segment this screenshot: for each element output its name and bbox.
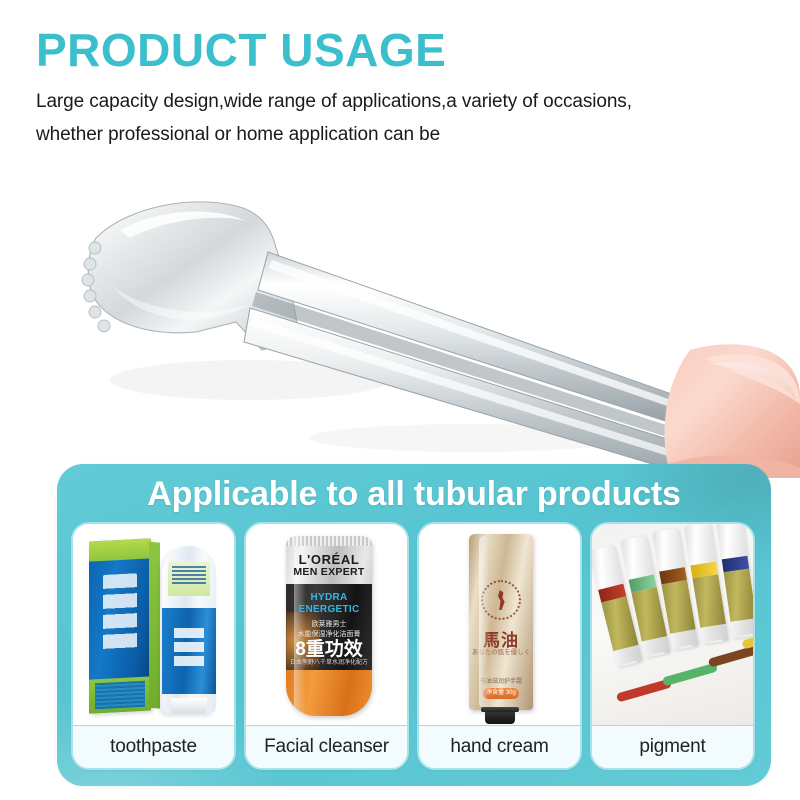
product-card-toothpaste[interactable]: toothpaste [71,522,236,770]
subtitle-line-2: whether professional or home application… [36,119,776,152]
hand-cream-image: 馬油 あなたの肌を優しく 马油滋润护手霜 净含量 30g [419,524,580,726]
card-label-toothpaste: toothpaste [73,726,234,768]
cleanser-tube: L'ORÉAL MEN EXPERT HYDRA ENERGETIC 欧莱雅男士… [286,536,372,716]
toothpaste-tube [162,546,216,714]
cleanser-cn-text: 欧莱雅男士 水能保湿净化洁面膏 [286,620,372,640]
hand-grip [665,344,800,478]
facial-cleanser-image: L'ORÉAL MEN EXPERT HYDRA ENERGETIC 欧莱雅男士… [246,524,407,726]
cn-line-2: 水能保湿净化洁面膏 [298,631,361,638]
header: PRODUCT USAGE Large capacity design,wide… [36,26,776,152]
hero-product-photo [0,168,800,478]
box-label-strip [95,681,145,710]
tube-gloss [479,536,489,708]
brand-loreal: L'ORÉAL [286,552,372,567]
cn-line-1: 欧莱雅男士 [312,621,347,628]
tube-top-label [168,562,210,596]
box-vertical-text [103,573,137,685]
product-card-pigment[interactable]: pigment [590,522,755,770]
product-cards-row: toothpaste L'ORÉAL MEN EXPERT HYDRA [71,522,755,770]
toothpaste-image [73,524,234,726]
cleanser-footnote: 日本熊野八千草水润净化配方 [286,657,372,666]
card-label-facial-cleanser: Facial cleanser [246,726,407,768]
page-subtitle: Large capacity design,wide range of appl… [36,86,776,151]
tube-brand-text [174,628,204,674]
product-card-hand-cream[interactable]: 馬油 あなたの肌を優しく 马油滋润护手霜 净含量 30g hand cream [417,522,582,770]
toothpaste-box [89,538,151,713]
card-label-hand-cream: hand cream [419,726,580,768]
subtitle-line-1: Large capacity design,wide range of appl… [36,91,632,112]
applicable-products-panel: Applicable to all tubular products [57,464,771,786]
tube-squeezer-illustration [0,168,800,478]
panel-title: Applicable to all tubular products [57,475,771,514]
brand-men-expert: MEN EXPERT [286,566,372,578]
hand-cream-tube: 馬油 あなたの肌を優しく 马油滋润护手霜 净含量 30g [469,534,533,710]
pigment-image [592,524,753,726]
box-green-top [89,538,151,561]
box-side-panel [149,542,160,709]
product-line-hydra: HYDRA ENERGETIC [286,592,372,615]
page-title: PRODUCT USAGE [36,26,776,74]
hydra-line-1: HYDRA [310,592,347,603]
hand-cream-cap [485,710,515,724]
tube-cap [171,698,207,714]
product-card-facial-cleanser[interactable]: L'ORÉAL MEN EXPERT HYDRA ENERGETIC 欧莱雅男士… [244,522,409,770]
card-label-pigment: pigment [592,726,753,768]
product-usage-page: PRODUCT USAGE Large capacity design,wide… [0,0,800,800]
hydra-line-2: ENERGETIC [298,604,359,615]
